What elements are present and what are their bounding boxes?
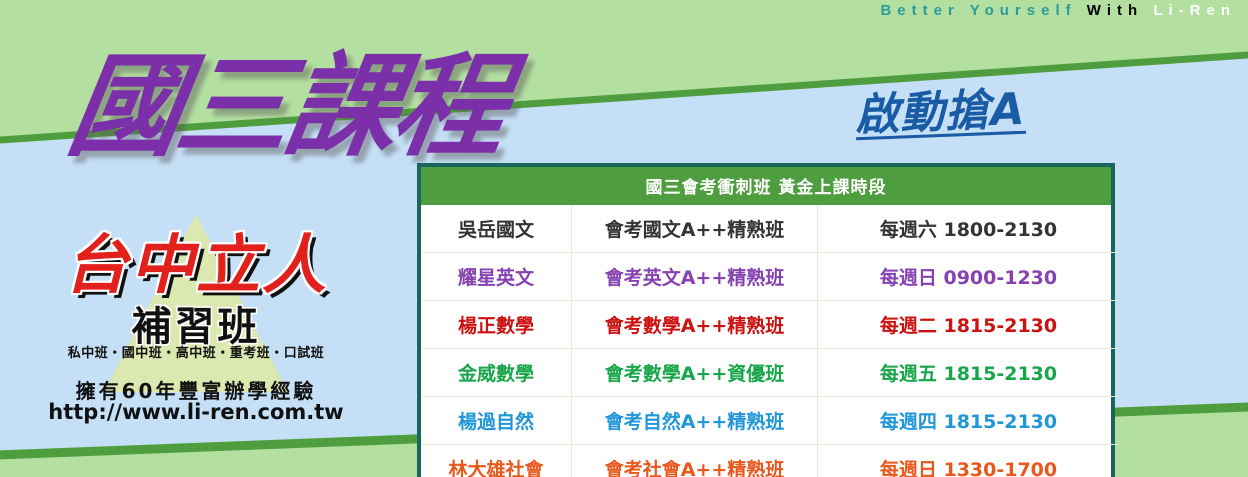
- schedule-time-cell: 每週二 1815-2130: [818, 301, 1120, 349]
- tagline-part-2: With: [1087, 2, 1143, 19]
- schedule-course-cell: 會考自然A++精熟班: [572, 397, 818, 445]
- schedule-teacher-cell: 耀星英文: [421, 253, 572, 301]
- school-logo: 台中立人 補習班 私中班・國中班・高中班・重考班・口試班 擁有60年豐富辦學經驗…: [26, 212, 366, 424]
- schedule-course-cell: 會考社會A++精熟班: [572, 445, 818, 477]
- schedule-table: 吳岳國文會考國文A++精熟班每週六 1800-2130耀星英文會考英文A++精熟…: [421, 205, 1119, 477]
- tagline-part-3: Li-Ren: [1153, 2, 1236, 19]
- schedule-teacher-cell: 金威數學: [421, 349, 572, 397]
- schedule-time-cell: 每週日 1330-1700: [818, 445, 1120, 477]
- table-row: 林大雄社會會考社會A++精熟班每週日 1330-1700: [421, 445, 1119, 477]
- table-row: 楊正數學會考數學A++精熟班每週二 1815-2130: [421, 301, 1119, 349]
- schedule-time-cell: 每週日 0900-1230: [818, 253, 1120, 301]
- schedule-time-cell: 每週六 1800-2130: [818, 205, 1120, 253]
- schedule-time-cell: 每週五 1815-2130: [818, 349, 1120, 397]
- sub-headline: 啟動搶A: [854, 73, 1026, 143]
- table-row: 吳岳國文會考國文A++精熟班每週六 1800-2130: [421, 205, 1119, 253]
- tagline-part-1: Better Yourself: [880, 2, 1076, 19]
- page-title: 國三課程: [59, 16, 517, 178]
- schedule-panel: 國三會考衝刺班 黃金上課時段 吳岳國文會考國文A++精熟班每週六 1800-21…: [417, 163, 1115, 477]
- schedule-course-cell: 會考英文A++精熟班: [572, 253, 818, 301]
- schedule-teacher-cell: 吳岳國文: [421, 205, 572, 253]
- schedule-course-cell: 會考數學A++資優班: [572, 349, 818, 397]
- table-row: 楊過自然會考自然A++精熟班每週四 1815-2130: [421, 397, 1119, 445]
- logo-course-list: 私中班・國中班・高中班・重考班・口試班: [26, 342, 366, 361]
- schedule-time-cell: 每週四 1815-2130: [818, 397, 1120, 445]
- table-row: 耀星英文會考英文A++精熟班每週日 0900-1230: [421, 253, 1119, 301]
- logo-website-url[interactable]: http://www.li-ren.com.tw: [26, 400, 366, 424]
- schedule-course-cell: 會考國文A++精熟班: [572, 205, 818, 253]
- schedule-table-body: 吳岳國文會考國文A++精熟班每週六 1800-2130耀星英文會考英文A++精熟…: [421, 205, 1119, 477]
- schedule-header: 國三會考衝刺班 黃金上課時段: [421, 167, 1111, 205]
- brand-tagline: Better Yourself With Li-Ren: [880, 2, 1236, 19]
- schedule-course-cell: 會考數學A++精熟班: [572, 301, 818, 349]
- table-row: 金威數學會考數學A++資優班每週五 1815-2130: [421, 349, 1119, 397]
- schedule-teacher-cell: 林大雄社會: [421, 445, 572, 477]
- logo-school-name: 台中立人: [26, 214, 366, 306]
- schedule-teacher-cell: 楊過自然: [421, 397, 572, 445]
- schedule-teacher-cell: 楊正數學: [421, 301, 572, 349]
- poster-root: Better Yourself With Li-Ren 國三課程 啟動搶A 台中…: [0, 0, 1248, 477]
